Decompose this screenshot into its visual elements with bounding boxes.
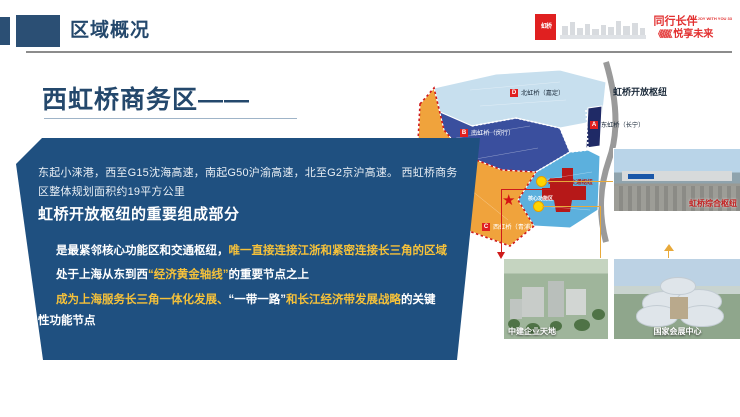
- map-label-zone-d: D 北虹桥（嘉定）: [510, 88, 564, 97]
- page-header: 区域概况 虹桥 同行长伴JOY WITH YOU 33: [0, 0, 740, 62]
- photo-caption-necc: 国家会展中心: [654, 326, 702, 337]
- map-badge-b: B: [460, 129, 468, 137]
- map-label-zone-c: C 西虹桥（青浦）: [482, 222, 536, 231]
- panel-bullet-3: 成为上海服务长三角一体化发展、“一带一路”和长江经济带发展战略的关键: [56, 290, 471, 311]
- panel-bullet-1-seg-1: 唯一直接连接江浙和紧密连接长三角的区域: [229, 245, 448, 257]
- photo-caption-cscec: 中建企业天地: [508, 326, 556, 337]
- panel-bullet-3-seg-2: 和长江经济带发展战略: [286, 294, 401, 306]
- header-divider: [26, 51, 732, 53]
- info-panel: 东起小涞港，西至G15沈海高速，南起G50沪渝高速，北至G2京沪高速。 西虹桥商…: [16, 138, 480, 360]
- leader-line-hub: [545, 181, 613, 182]
- map-label-a-text: 东虹桥（长宁）: [601, 120, 644, 129]
- map-annotation-transport-hub: 虹桥综合交通枢纽: [548, 178, 593, 186]
- map-label-zone-a: A 东虹桥（长宁）: [590, 120, 644, 129]
- map-badge-d: D: [510, 89, 518, 97]
- panel-bullet-3-seg-1: “一带一路”: [229, 294, 287, 306]
- map-label-b-text: 南虹桥（闵行）: [471, 128, 514, 137]
- company-seal-text: 虹桥: [541, 24, 551, 30]
- brand-slogan-sup: JOY WITH YOU 33: [697, 16, 732, 21]
- panel-bullet-2-seg-2: 的重要节点之上: [229, 269, 310, 281]
- leader-line-core-vertical: [600, 206, 601, 258]
- map-label-d-text: 北虹桥（嘉定）: [521, 88, 564, 97]
- leader-line-core-1: [542, 206, 600, 207]
- panel-bullet-2: 处于上海从东到西“经济黄金轴线”的重要节点之上: [56, 265, 466, 286]
- panel-bullet-1-seg-0: 是最紧邻核心功能区和交通枢纽，: [56, 245, 229, 257]
- header-accent-bar-small: [0, 17, 10, 45]
- company-seal-icon: 虹桥: [535, 14, 556, 40]
- map-label-c-text: 西虹桥（青浦）: [493, 222, 536, 231]
- brand-slogan: 同行长伴JOY WITH YOU 33 《《《《《 悦享未来: [653, 13, 732, 42]
- panel-bullet-3-seg-0: 成为上海服务长三角一体化发展、: [56, 294, 229, 306]
- panel-bullet-2-seg-1: “经济黄金轴线”: [148, 269, 229, 281]
- photo-cscec-plaza: 中建企业天地: [503, 258, 609, 340]
- slide-root: 区域概况 虹桥 同行长伴JOY WITH YOU 33: [0, 0, 740, 417]
- brand-chevrons-icon: 《《《《《: [653, 29, 670, 39]
- photo-hongqiao-hub: 虹桥综合枢纽: [613, 148, 740, 212]
- page-title: 区域概况: [70, 18, 150, 44]
- map-star-marker: ★: [502, 193, 515, 208]
- header-accent-bar-large: [16, 15, 60, 47]
- map-badge-a: A: [590, 121, 598, 129]
- panel-bullet-1: 是最紧邻核心功能区和交通枢纽，唯一直接连接江浙和紧密连接长三角的区域: [56, 241, 466, 262]
- panel-lead-text: 东起小涞港，西至G15沈海高速，南起G50沪渝高速，北至G2京沪高速。 西虹桥商…: [38, 164, 462, 202]
- section-title: 西虹桥商务区——: [42, 80, 250, 116]
- leader-arrow-up-icon: [664, 244, 674, 251]
- panel-bullet-4-seg-0: 性功能节点: [38, 315, 96, 327]
- red-leader-vertical: [501, 189, 502, 257]
- photo-caption-hub: 虹桥综合枢纽: [689, 198, 737, 209]
- map-hub-title: 虹桥开放枢纽: [613, 85, 667, 98]
- panel-heading: 虹桥开放枢纽的重要组成部分: [38, 203, 240, 224]
- map-label-zone-b: B 南虹桥（闵行）: [460, 128, 514, 137]
- panel-bullet-3-seg-3: 的关键: [401, 294, 436, 306]
- skyline-graphic-icon: [560, 15, 646, 39]
- panel-bullet-2-seg-0: 处于上海从东到西: [56, 269, 148, 281]
- map-badge-c: C: [482, 223, 490, 231]
- brand-logo: 虹桥 同行长伴JOY WITH YOU 33 《《《《《 悦享未来: [535, 10, 732, 44]
- panel-bullet-4: 性功能节点: [38, 311, 453, 332]
- brand-slogan-line1: 同行长伴: [653, 15, 697, 27]
- photo-necc: 国家会展中心: [613, 258, 740, 340]
- red-leader-horizontal: [501, 189, 551, 190]
- brand-slogan-line2: 悦享未来: [673, 29, 713, 40]
- section-title-underline: [44, 118, 297, 119]
